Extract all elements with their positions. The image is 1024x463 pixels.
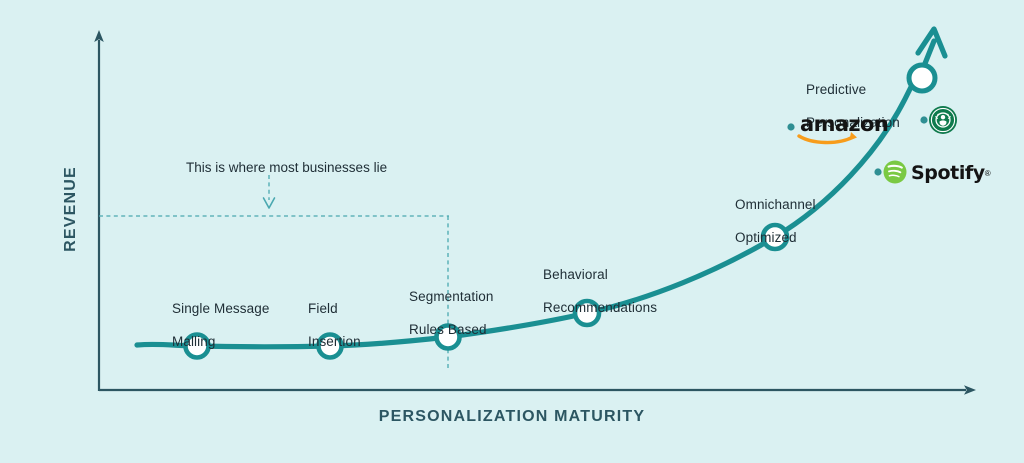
label-single-message-line1: Single Message bbox=[172, 301, 269, 316]
annotation-arrow bbox=[264, 175, 275, 208]
label-omnichannel-line1: Omnichannel bbox=[735, 197, 816, 212]
label-behavioral-line1: Behavioral bbox=[543, 267, 608, 282]
label-behavioral-line2: Recommendations bbox=[543, 300, 657, 315]
label-behavioral: Behavioral Recommendations bbox=[543, 250, 657, 316]
y-axis-label: REVENUE bbox=[62, 129, 80, 289]
brand-amazon: amazon bbox=[800, 115, 888, 134]
spotify-registered-mark: ® bbox=[985, 169, 991, 178]
node-predictive[interactable] bbox=[909, 65, 935, 91]
label-omnichannel: Omnichannel Optimized bbox=[735, 180, 816, 246]
label-segmentation-line1: Segmentation bbox=[409, 289, 494, 304]
label-segmentation-line2: Rules Based bbox=[409, 322, 487, 337]
amazon-bullet-icon bbox=[787, 123, 794, 130]
label-segmentation: Segmentation Rules Based bbox=[409, 272, 494, 338]
label-single-message: Single Message Malling bbox=[172, 284, 269, 350]
spotify-wordmark: Spotify bbox=[911, 162, 985, 184]
label-predictive-line1: Predictive bbox=[806, 82, 866, 97]
amazon-wordmark: amazon bbox=[800, 115, 888, 134]
label-field-insertion: Field Insertion bbox=[308, 284, 361, 350]
y-axis bbox=[94, 30, 104, 391]
brand-spotify: Spotify® bbox=[911, 162, 991, 184]
spotify-icon bbox=[884, 161, 907, 184]
label-field-insertion-line2: Insertion bbox=[308, 334, 361, 349]
x-axis-label: PERSONALIZATION MATURITY bbox=[0, 408, 1024, 426]
label-omnichannel-line2: Optimized bbox=[735, 230, 797, 245]
spotify-bullet-icon bbox=[874, 168, 881, 175]
label-single-message-line2: Malling bbox=[172, 334, 215, 349]
annotation-text: This is where most businesses lie bbox=[186, 160, 387, 175]
x-axis bbox=[99, 385, 976, 395]
starbucks-icon bbox=[929, 106, 957, 134]
label-field-insertion-line1: Field bbox=[308, 301, 338, 316]
chart-canvas: REVENUE PERSONALIZATION MATURITY This is… bbox=[0, 0, 1024, 463]
starbucks-bullet-icon bbox=[920, 116, 927, 123]
